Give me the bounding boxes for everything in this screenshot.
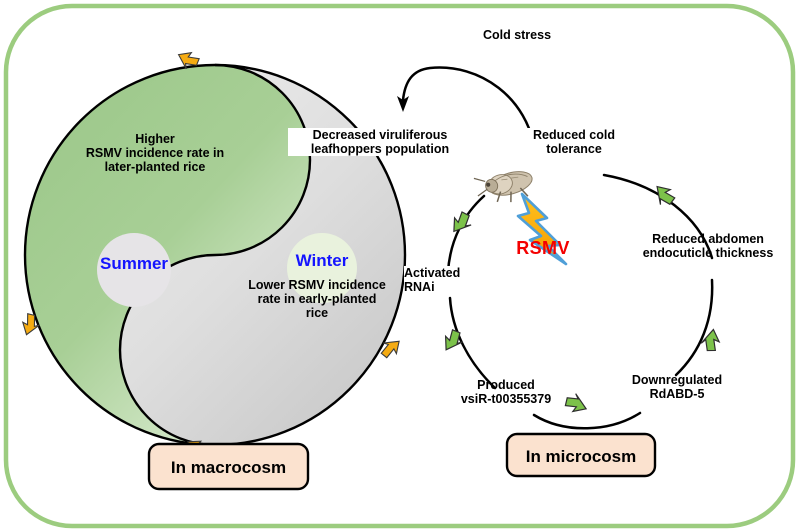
- arc-endocuticle-to-rdabd5: [676, 280, 712, 375]
- node-reduced-endocuticle: Reduced abdomen endocuticle thickness: [624, 232, 792, 260]
- node-activated-rnai: Activated RNAi: [404, 266, 486, 294]
- summer-label: Summer: [84, 255, 184, 272]
- yin-description: Higher RSMV incidence rate in later-plan…: [62, 132, 248, 174]
- winter-label: Winter: [272, 252, 372, 269]
- figure-canvas: Higher RSMV incidence rate in later-plan…: [0, 0, 799, 532]
- node-produced-vsir: Produced vsiR-t00355379: [440, 378, 572, 406]
- yang-description: Lower RSMV incidence rate in early-plant…: [228, 278, 406, 320]
- macrocosm-box-label: In macrocosm: [149, 459, 308, 476]
- node-downregulated-rdabd5: Downregulated RdABD-5: [604, 373, 750, 401]
- microcosm-box-label: In microcosm: [507, 448, 655, 465]
- node-cold-stress: Cold stress: [442, 28, 592, 42]
- rsmv-label: RSMV: [498, 238, 588, 259]
- node-decreased-population: Decreased viruliferous leafhoppers popul…: [288, 128, 472, 156]
- arc-rdabd5-to-vsir: [534, 413, 640, 428]
- node-reduced-cold-tolerance: Reduced cold tolerance: [512, 128, 636, 156]
- arc-rnai-to-insect: [448, 196, 484, 272]
